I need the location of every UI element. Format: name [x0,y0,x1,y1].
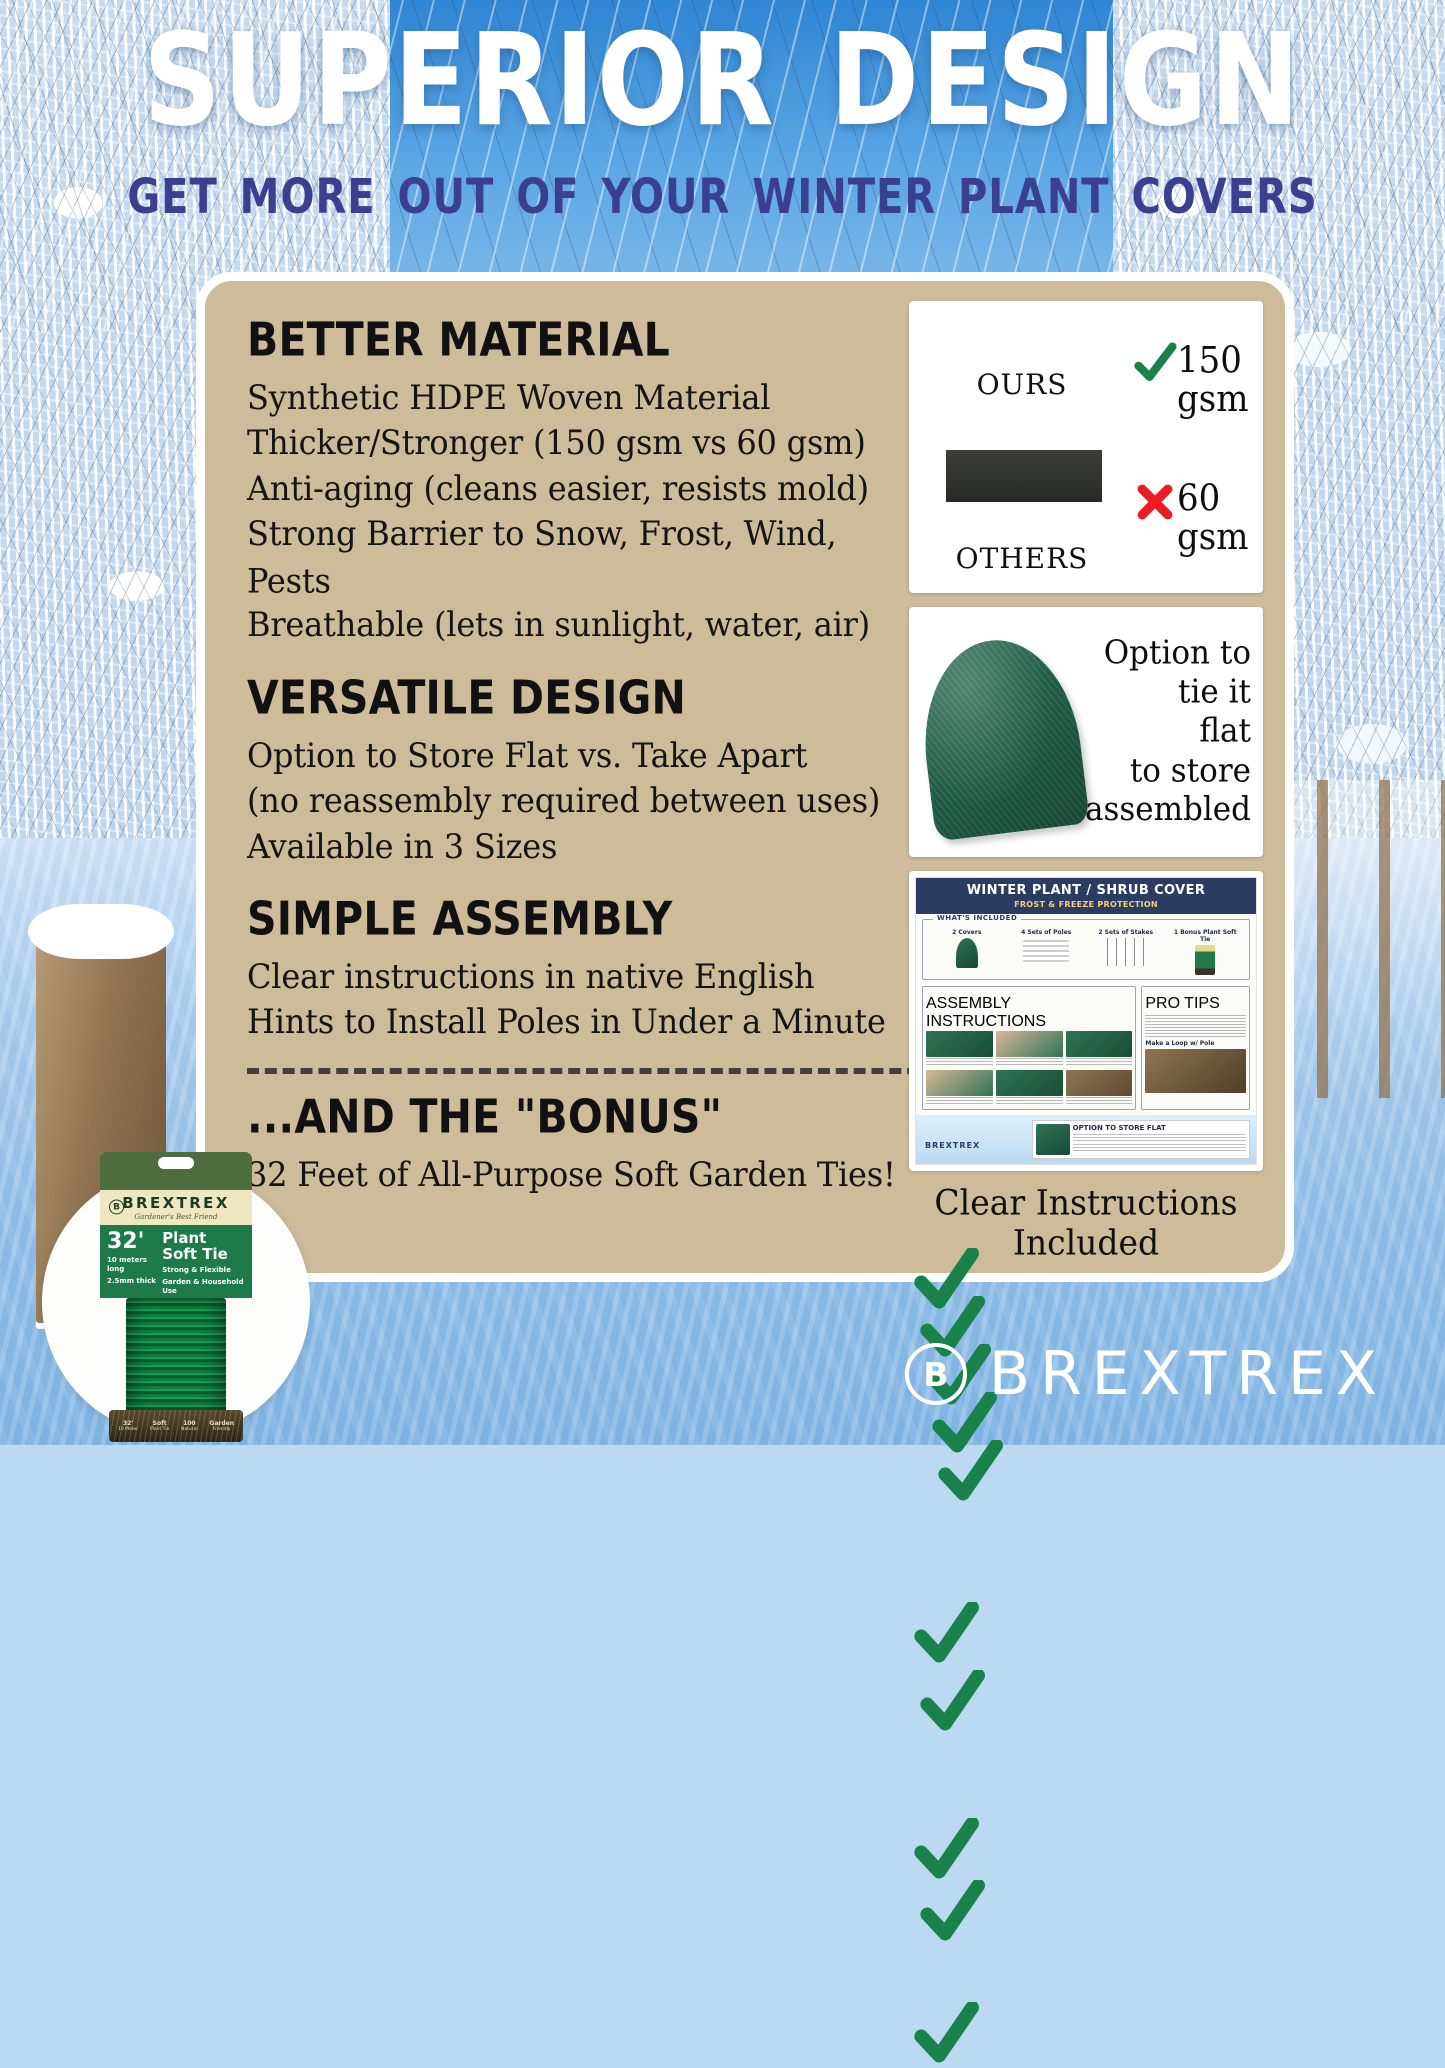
store-line: tie it [1085,673,1251,712]
feature-line: 32 Feet of All-Purpose Soft Garden Ties! [247,1151,905,1199]
fabric-others: OTHERS [917,450,1127,585]
feature-line: Anti-aging (cleans easier, resists mold) [247,465,905,513]
sheet-subtitle: FROST & FREEZE PROTECTION [918,900,1254,909]
package-feature: Garden Friendly [209,1420,234,1432]
features-text-column: BETTER MATERIAL Synthetic HDPE Woven Mat… [205,281,905,1273]
instructions-caption: Clear Instructions Included [909,1183,1263,1263]
package-tagline: Gardener's Best Friend [135,1213,218,1221]
bonus-product-circle: B BREXTREX Gardener's Best Friend 32' 10… [42,1168,310,1436]
hang-hole [158,1157,194,1169]
package-length-detail: 10 meters long [107,1256,162,1274]
check-icon [1133,342,1177,390]
page-subtitle: GET MORE OUT OF YOUR WINTER PLANT COVERS [0,170,1445,225]
whats-included-box: WHAT'S INCLUDED 2 Covers 4 Sets of Poles… [922,919,1250,980]
section-simple-assembly: SIMPLE ASSEMBLY Clear instructions in na… [247,892,905,1044]
store-flat-panel: OPTION TO STORE FLAT [1032,1120,1250,1159]
gsm-value-others: 60 gsm [1177,480,1248,556]
protip-item: Make a Loop w/ Pole [1145,1040,1246,1047]
check-icon [919,1670,985,1736]
store-line: flat [1085,712,1251,751]
package-feature: 32' 10 Meter [118,1420,138,1432]
brand-b-icon: B [109,1200,124,1215]
included-item: 2 Covers [930,929,1003,975]
pro-tips-box: PRO TIPS Make a Loop w/ Pole [1141,986,1250,1110]
sheet-header: WINTER PLANT / SHRUB COVER FROST & FREEZ… [916,878,1256,914]
assembly-box: ASSEMBLY INSTRUCTIONS [922,986,1136,1110]
package-length: 32' [107,1231,162,1253]
store-flat-text: Option to tie it flat to store assembled [1085,611,1255,853]
photo-column: OURS OTHERS 150 gsm [905,281,1285,1273]
feature-line: Breathable (lets in sunlight, water, air… [247,601,905,649]
feature-line: Synthetic HDPE Woven Material [247,374,905,422]
check-icon [913,1818,979,1884]
poles-thumb-icon [1023,940,1069,962]
brand-name: BREXTREX [989,1339,1387,1409]
package-header-card: B BREXTREX Gardener's Best Friend 32' 10… [100,1152,252,1298]
section-heading: VERSATILE DESIGN [247,671,905,725]
package-feature-strip: 32' 10 Meter Soft Plant Tie 100 Natural … [109,1410,243,1442]
dashed-divider [247,1068,937,1074]
feature-line: Hints to Install Poles in Under a Minute [247,998,905,1046]
check-icon [913,1602,979,1668]
protips-title: PRO TIPS [1145,995,1246,1013]
package-product-sub: Garden & Household Use [162,1278,245,1296]
package-brand: BREXTREX [122,1194,230,1212]
package-feature: Soft Plant Tie [150,1420,169,1432]
section-heading: BETTER MATERIAL [247,313,905,367]
package-brand-block: B BREXTREX Gardener's Best Friend [100,1190,252,1225]
package-info: 32' 10 meters long 2.5mm thick Plant Sof… [100,1225,252,1298]
green-tie-coil [126,1298,226,1414]
included-item: 4 Sets of Poles [1010,929,1083,975]
gsm-column: 150 gsm 60 gsm [1127,309,1255,585]
tie-thumb-icon [1195,945,1215,975]
included-title: WHAT'S INCLUDED [933,914,1021,922]
check-icon [919,1880,985,1946]
sheet-title: WINTER PLANT / SHRUB COVER [918,883,1254,898]
feature-line: Thicker/Stronger (150 gsm vs 60 gsm) [247,419,905,467]
cross-icon [1133,480,1177,528]
store-line: Option to [1085,634,1251,673]
stakes-thumb-icon [1107,938,1145,966]
page-title: SUPERIOR DESIGN [0,18,1445,145]
features-panel: BETTER MATERIAL Synthetic HDPE Woven Mat… [196,272,1294,1282]
gsm-row-ours: 150 gsm [1133,342,1248,414]
store-flat-title: OPTION TO STORE FLAT [1073,1124,1246,1132]
section-heading: ...AND THE "BONUS" [247,1090,905,1144]
brand-footer-logo: B BREXTREX [905,1339,1387,1409]
feature-line: Clear instructions in native English [247,953,905,1001]
check-icon [913,2002,979,2068]
feature-line: Available in 3 Sizes [247,823,905,871]
plant-soft-tie-package: B BREXTREX Gardener's Best Friend 32' 10… [100,1152,252,1442]
store-flat-band: OPTION TO STORE FLAT BREXTREX [916,1115,1256,1164]
sheet-brand-logo: BREXTREX [925,1141,980,1150]
section-better-material: BETTER MATERIAL Synthetic HDPE Woven Mat… [247,313,905,647]
section-bonus: ...AND THE "BONUS" 32 Feet of All-Purpos… [247,1090,905,1196]
package-product-name: Plant Soft Tie [162,1231,245,1263]
section-heading: SIMPLE ASSEMBLY [247,892,905,946]
package-feature: 100 Natural [181,1420,198,1432]
feature-line: Strong Barrier to Snow, Frost, Wind, Pes… [247,510,905,606]
section-versatile-design: VERSATILE DESIGN Option to Store Flat vs… [247,671,905,868]
plant-cover-photo [917,617,1085,847]
package-length-detail: 2.5mm thick [107,1277,162,1286]
fabric-ours: OURS [917,309,1127,461]
fabric-photo: OURS OTHERS [917,309,1127,585]
instruction-sheet: WINTER PLANT / SHRUB COVER FROST & FREEZ… [915,877,1257,1165]
gsm-value-ours: 150 gsm [1177,342,1248,418]
feature-line: Option to Store Flat vs. Take Apart [247,732,905,780]
included-item: 2 Sets of Stakes [1089,929,1162,975]
store-line: to store [1085,752,1251,791]
assembly-title: ASSEMBLY INSTRUCTIONS [926,995,1132,1031]
ours-label: OURS [977,368,1068,401]
header: SUPERIOR DESIGN GET MORE OUT OF YOUR WIN… [0,18,1445,216]
card-store-flat: Option to tie it flat to store assembled [909,607,1263,857]
cover-thumb-icon [956,938,978,968]
included-item: 1 Bonus Plant Soft Tie [1169,929,1242,975]
feature-line: (no reassembly required between uses) [247,777,905,825]
brand-b-icon: B [905,1343,967,1405]
folded-cover-thumb-icon [1036,1124,1070,1155]
others-label: OTHERS [956,542,1089,575]
package-product-sub: Strong & Flexible [162,1266,245,1275]
check-icon [937,1440,1003,1506]
store-line: assembled [1085,791,1251,830]
card-instruction-sheet: WINTER PLANT / SHRUB COVER FROST & FREEZ… [909,871,1263,1171]
card-material-comparison: OURS OTHERS 150 gsm [909,301,1263,593]
gsm-row-others: 60 gsm [1133,480,1248,552]
